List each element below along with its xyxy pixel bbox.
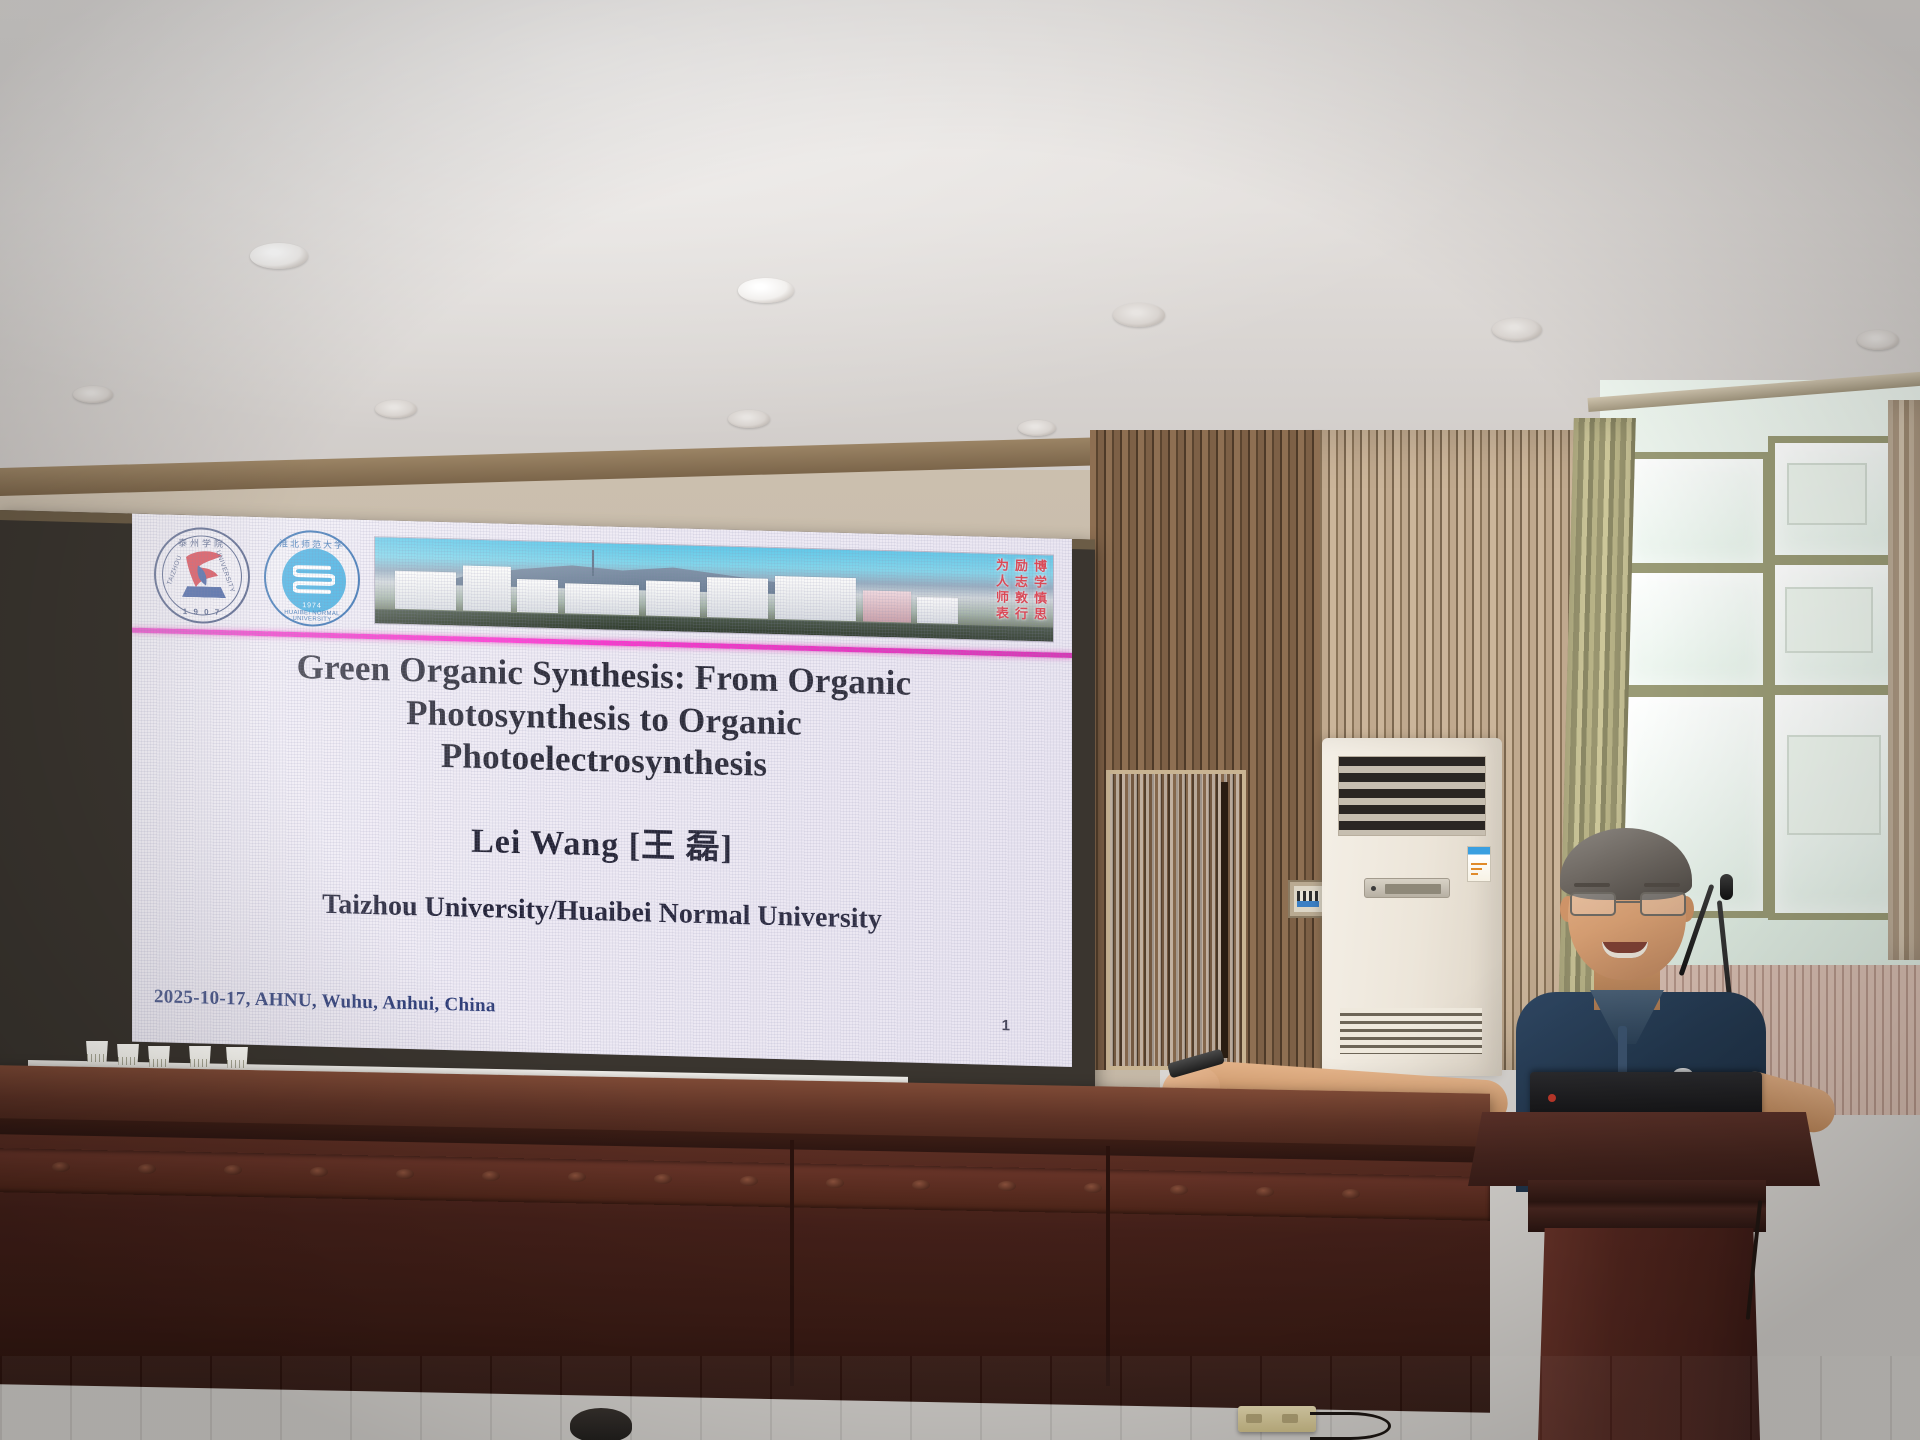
power-socket-icon — [1282, 1414, 1298, 1423]
window-reflection — [1785, 587, 1873, 653]
window-mid-left — [1618, 566, 1770, 692]
floor — [0, 1356, 1920, 1440]
table-ornament — [482, 1171, 500, 1181]
presenter-eyebrow — [1574, 883, 1610, 887]
ceiling-downlight — [738, 278, 794, 303]
table-ornament — [568, 1172, 586, 1182]
air-conditioner[interactable] — [1322, 738, 1502, 1076]
banner-motto-text: 博学慎思 励志敦行 为人师表 — [992, 558, 1049, 638]
ac-control-panel[interactable] — [1364, 878, 1450, 898]
audience-member-head — [570, 1408, 632, 1440]
table-panel-seam — [1106, 1146, 1110, 1386]
table-ornament — [138, 1164, 156, 1174]
ac-bottom-vent-icon — [1340, 1008, 1482, 1054]
ceiling-downlight — [1492, 318, 1542, 341]
window-reflection — [1787, 735, 1881, 835]
power-cable — [1310, 1412, 1391, 1440]
laptop-indicator-icon — [1548, 1094, 1556, 1102]
ac-louvers-icon — [1338, 756, 1486, 836]
side-door[interactable] — [1106, 770, 1246, 1070]
huaibei-normal-university-logo-icon: 淮北师范大学 1974 HUAIBEI NORMAL UNIVERSITY — [264, 529, 360, 628]
taizhou-university-logo-icon: 泰州学院 TAIZHOU UNIVERSITY 1 9 0 7 — [154, 526, 250, 625]
slide-page-number: 1 — [1002, 1017, 1010, 1034]
table-ornament — [912, 1180, 930, 1190]
slide-affiliation: Taizhou University/Huaibei Normal Univer… — [132, 884, 1072, 941]
presenter-eyebrow — [1644, 883, 1680, 887]
table-ornament — [224, 1165, 242, 1175]
slide-footer: 2025-10-17, AHNU, Wuhu, Anhui, China — [154, 986, 496, 1017]
table-ornament — [310, 1167, 328, 1177]
ceiling-downlight — [250, 243, 308, 269]
table-ornament — [1342, 1189, 1360, 1199]
ceiling-downlight — [73, 386, 113, 403]
slide-author: Lei Wang [王 磊] — [132, 804, 1072, 878]
campus-panorama-banner: 博学慎思 励志敦行 为人师表 — [374, 536, 1054, 642]
table-ornament — [654, 1174, 672, 1184]
table-ornament — [1084, 1183, 1102, 1193]
door-gap — [1221, 782, 1228, 1058]
window-reflection — [1787, 463, 1867, 525]
ac-display — [1385, 884, 1441, 894]
huaibei-logo-mark — [293, 562, 335, 595]
presentation-slide[interactable]: 泰州学院 TAIZHOU UNIVERSITY 1 9 0 7 淮北师范大学 — [132, 514, 1072, 1067]
lectern-top[interactable] — [1468, 1112, 1820, 1186]
table-ornament — [740, 1176, 758, 1186]
ceiling-downlight — [1113, 303, 1165, 327]
presenter-hair — [1560, 828, 1692, 900]
table-ornament — [1256, 1187, 1274, 1197]
window-upper-left — [1618, 452, 1770, 570]
slide-title: Green Organic Synthesis: From Organic Ph… — [162, 642, 1046, 794]
table-ornament — [826, 1178, 844, 1188]
table-ornament — [52, 1162, 70, 1172]
power-strip[interactable] — [1238, 1406, 1316, 1432]
taizhou-logo-year: 1 9 0 7 — [156, 606, 248, 617]
table-ornament — [998, 1181, 1016, 1191]
ceiling-downlight — [1857, 330, 1899, 350]
window-curtain-right[interactable] — [1888, 400, 1920, 960]
lecture-hall-scene: 泰州学院 TAIZHOU UNIVERSITY 1 9 0 7 淮北师范大学 — [0, 0, 1920, 1440]
table-ornament — [396, 1169, 414, 1179]
ceiling-downlight — [375, 400, 417, 418]
table-ornament — [1170, 1185, 1188, 1195]
breaker-label-strip — [1297, 901, 1319, 907]
lectern-neck — [1528, 1180, 1766, 1232]
eyeglasses-icon — [1566, 892, 1690, 918]
ceiling-downlight — [728, 410, 770, 428]
table-panel-seam — [790, 1140, 794, 1386]
huaibei-logo-en: HUAIBEI NORMAL UNIVERSITY — [266, 609, 358, 623]
projection-screen-frame: 泰州学院 TAIZHOU UNIVERSITY 1 9 0 7 淮北师范大学 — [0, 510, 1095, 1100]
ceiling-downlight — [1018, 420, 1056, 436]
power-socket-icon — [1246, 1414, 1262, 1423]
breaker-inner — [1294, 886, 1322, 912]
microphone-head-icon — [1720, 874, 1733, 900]
ac-led-icon — [1371, 886, 1376, 891]
